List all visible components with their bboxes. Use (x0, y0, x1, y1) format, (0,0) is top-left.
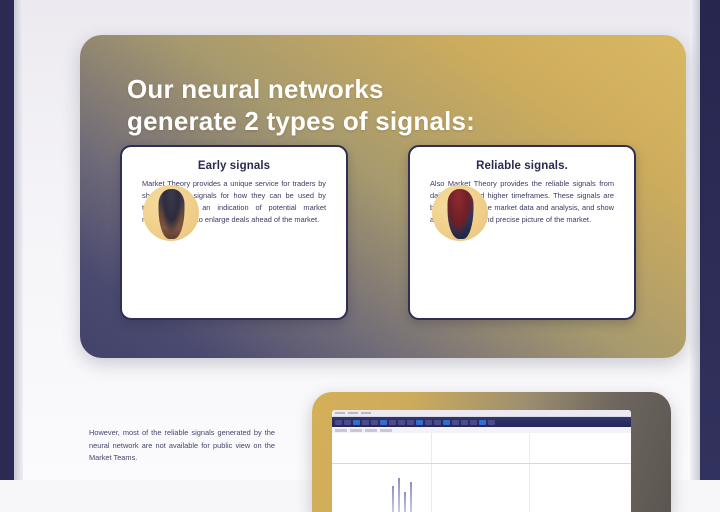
page-canvas: Our neural networks generate 2 types of … (23, 0, 690, 480)
terminal-menubar (332, 410, 631, 417)
page-right-gutter (690, 0, 700, 480)
toolbar-button (362, 420, 369, 425)
toolbar-button (344, 420, 351, 425)
page-title-line-1: Our neural networks (127, 74, 384, 104)
toolbar-button (398, 420, 405, 425)
toolbar-button (452, 420, 459, 425)
subtoolbar-item (380, 429, 392, 432)
page-left-gutter (14, 0, 23, 480)
terminal-toolbar (332, 417, 631, 427)
toolbar-button (434, 420, 441, 425)
chart-spike (392, 486, 394, 512)
toolbar-button-active (416, 420, 423, 425)
page-left-rail (0, 0, 14, 480)
tablet-screen (332, 410, 631, 512)
subtoolbar-item (365, 429, 377, 432)
toolbar-button (407, 420, 414, 425)
lower-paragraph: However, most of the reliable signals ge… (89, 427, 275, 464)
subtoolbar-item (350, 429, 362, 432)
toolbar-button (335, 420, 342, 425)
bear-figurine-icon (432, 185, 488, 241)
toolbar-button-active (479, 420, 486, 425)
page-right-rail (700, 0, 720, 480)
terminal-chart-area (332, 433, 631, 512)
menubar-item (335, 412, 345, 414)
bull-figurine-icon (143, 185, 199, 241)
toolbar-button (488, 420, 495, 425)
toolbar-button (371, 420, 378, 425)
page-title: Our neural networks generate 2 types of … (127, 74, 667, 137)
menubar-item (348, 412, 358, 414)
signal-card-title: Reliable signals. (426, 160, 618, 172)
hero-panel: Our neural networks generate 2 types of … (80, 35, 686, 358)
subtoolbar-item (335, 429, 347, 432)
bear-figurine-shape (448, 189, 474, 239)
toolbar-button-active (353, 420, 360, 425)
toolbar-button (470, 420, 477, 425)
toolbar-button-active (443, 420, 450, 425)
chart-spike (410, 482, 412, 512)
chart-spike (398, 478, 400, 512)
chart-gridline (529, 433, 530, 512)
menubar-item (361, 412, 371, 414)
chart-level-line (332, 463, 631, 464)
signal-card-title: Early signals (138, 160, 330, 172)
tablet-mockup (312, 392, 671, 512)
page-title-line-2: generate 2 types of signals: (127, 106, 667, 138)
toolbar-button (461, 420, 468, 425)
chart-gridline (431, 433, 432, 512)
toolbar-button (425, 420, 432, 425)
bull-figurine-shape (159, 189, 185, 239)
toolbar-button-active (380, 420, 387, 425)
chart-spike (404, 492, 406, 512)
toolbar-button (389, 420, 396, 425)
